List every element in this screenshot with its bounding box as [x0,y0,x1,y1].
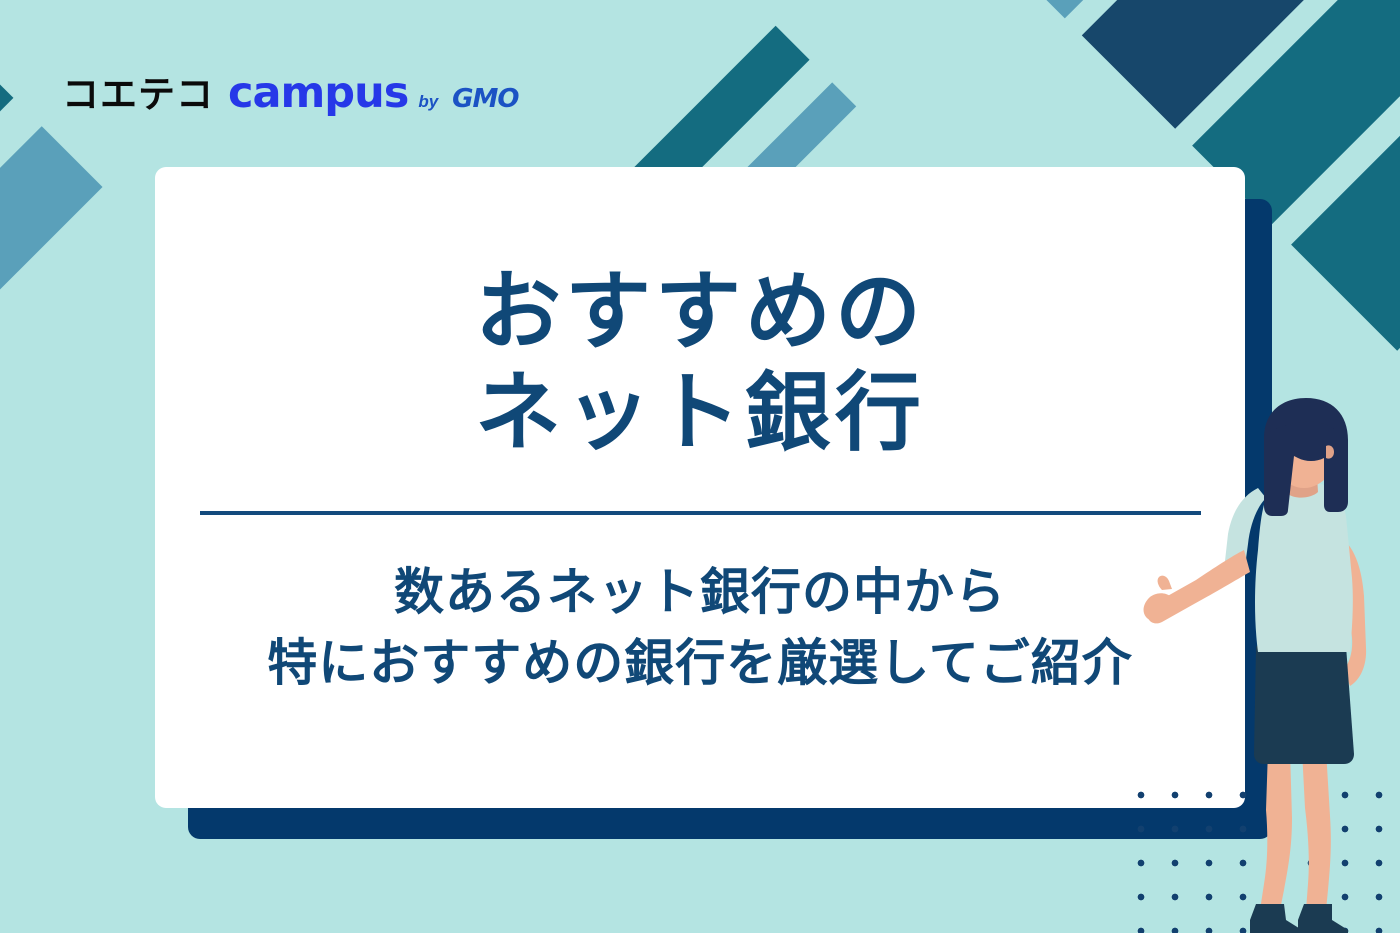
subtitle-line-1: 数あるネット銀行の中から [267,557,1133,628]
dot-grid-overlay [1148,748,1400,933]
banner-canvas: コエテコ campus by GMO おすすめの ネット銀行 数あるネット銀行の… [0,0,1400,933]
title-line-1: おすすめの [475,262,925,363]
logo-japanese-text: コエテコ [62,64,214,118]
title-divider [200,511,1201,515]
logo-by-text: by [418,92,438,112]
title-line-2: ネット銀行 [475,363,925,464]
content-card: おすすめの ネット銀行 数あるネット銀行の中から 特におすすめの銀行を厳選してご… [155,167,1245,808]
page-subtitle: 数あるネット銀行の中から 特におすすめの銀行を厳選してご紹介 [267,557,1133,699]
brand-logo[interactable]: コエテコ campus by GMO [62,64,518,118]
subtitle-line-2: 特におすすめの銀行を厳選してご紹介 [267,628,1133,699]
page-title: おすすめの ネット銀行 [475,262,925,465]
logo-campus-text: campus [228,68,408,118]
logo-gmo-text: GMO [452,84,518,114]
